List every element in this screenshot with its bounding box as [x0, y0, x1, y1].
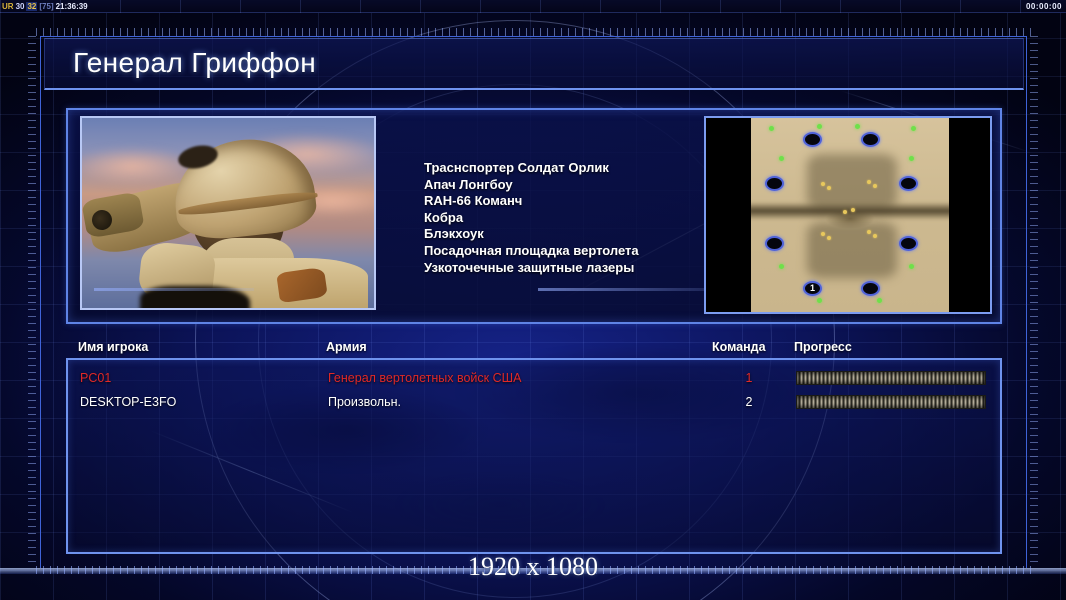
page-title: Генерал Гриффон [73, 47, 316, 79]
column-header-team: Команда [712, 340, 766, 354]
status-bar-ticks [0, 0, 1066, 13]
minimap-start-position [861, 281, 880, 296]
minimap-start-position [861, 132, 880, 147]
minimap-resource-marker [909, 156, 914, 161]
minimap-supply-marker [827, 236, 831, 240]
minimap-resource-marker [877, 298, 882, 303]
minimap-start-position [765, 176, 784, 191]
table-row[interactable]: PC01 Генерал вертолетных войск США 1 [68, 366, 1000, 390]
minimap-supply-marker [873, 234, 877, 238]
status-tag: UR [2, 2, 14, 11]
player-name: DESKTOP-E3FO [80, 390, 176, 414]
title-bar: Генерал Гриффон [44, 38, 1024, 90]
status-clock: 21:36:39 [56, 2, 88, 11]
minimap-supply-marker [851, 208, 855, 212]
minimap-resource-marker [779, 264, 784, 269]
minimap-resource-marker [779, 156, 784, 161]
frame-line-top [40, 36, 1027, 37]
minimap-terrain: 1 [751, 118, 949, 312]
status-bar-timer: 00:00:00 [1026, 1, 1062, 12]
minimap-resource-marker [909, 264, 914, 269]
table-row[interactable]: DESKTOP-E3FO Произвольн. 2 [68, 390, 1000, 414]
minimap-start-position-1: 1 [803, 281, 822, 296]
resolution-label: 1920 x 1080 [0, 552, 1066, 582]
minimap-resource-marker [911, 126, 916, 131]
minimap-supply-marker [873, 184, 877, 188]
column-header-name: Имя игрока [78, 340, 148, 354]
frame-line-right [1026, 36, 1027, 568]
player-progress-bar [796, 395, 986, 409]
minimap-supply-marker [867, 230, 871, 234]
minimap-resource-marker [855, 124, 860, 129]
general-info-panel: Траснспортер Солдат Орлик Апач Лонгбоу R… [66, 108, 1002, 324]
minimap-start-position [765, 236, 784, 251]
minimap-start-position [899, 176, 918, 191]
player-table: PC01 Генерал вертолетных войск США 1 DES… [66, 358, 1002, 554]
minimap-supply-marker [821, 182, 825, 186]
ruler-right [1030, 36, 1038, 566]
column-header-progress: Прогресс [794, 340, 852, 354]
player-team: 1 [728, 366, 770, 390]
status-bar-left-readout: UR3032[75]21:36:39 [2, 1, 90, 12]
player-army: Генерал вертолетных войск США [328, 366, 521, 390]
status-value-1: 30 [16, 2, 25, 11]
ruler-top [36, 28, 1032, 36]
frame-line-left [40, 36, 41, 568]
minimap-supply-marker [821, 232, 825, 236]
minimap-supply-marker [827, 186, 831, 190]
minimap-start-position [803, 132, 822, 147]
player-table-header: Имя игрока Армия Команда Прогресс [66, 340, 1002, 358]
minimap: 1 [704, 116, 992, 314]
minimap-terrain-patch [807, 222, 897, 278]
top-status-bar: UR3032[75]21:36:39 00:00:00 [0, 0, 1066, 13]
ruler-left [28, 36, 36, 566]
player-team: 2 [728, 390, 770, 414]
minimap-resource-marker [817, 298, 822, 303]
player-progress-bar [796, 371, 986, 385]
minimap-resource-marker [769, 126, 774, 131]
loading-screen: UR3032[75]21:36:39 00:00:00 Генерал Гриф… [0, 0, 1066, 600]
minimap-supply-marker [867, 180, 871, 184]
player-army: Произвольн. [328, 390, 401, 414]
column-header-army: Армия [326, 340, 367, 354]
accent-line-left [94, 288, 254, 291]
minimap-supply-marker [843, 210, 847, 214]
minimap-resource-marker [817, 124, 822, 129]
player-name: PC01 [80, 366, 111, 390]
accent-line-right [538, 288, 708, 291]
minimap-start-position [899, 236, 918, 251]
status-bracket: [75] [39, 2, 53, 11]
general-portrait [80, 116, 376, 310]
status-value-2: 32 [26, 2, 37, 11]
minimap-river [751, 202, 949, 220]
